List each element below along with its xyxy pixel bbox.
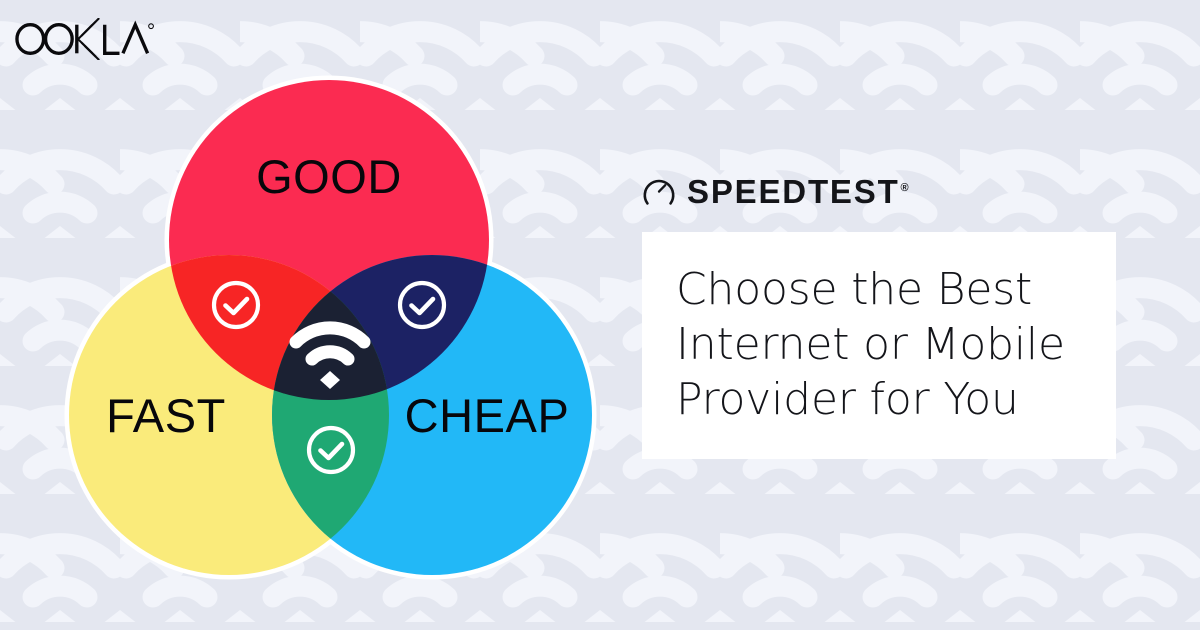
speedtest-trademark-symbol: ® <box>901 182 909 194</box>
speedtest-wordmark: SPEEDTEST® <box>687 175 909 208</box>
headline-card: Choose the Best Internet or Mobile Provi… <box>642 232 1116 459</box>
headline-line-1: Choose the Best <box>676 262 1082 317</box>
headline-line-2: Internet or Mobile <box>676 317 1082 372</box>
speedtest-wordmark-text: SPEEDTEST <box>687 173 900 210</box>
banner-canvas: GOOD FAST CHEAP <box>0 0 1200 630</box>
venn-diagram: GOOD FAST CHEAP <box>44 60 614 580</box>
speedtest-logo: SPEEDTEST® <box>642 168 1122 214</box>
speedometer-icon <box>642 174 676 208</box>
venn-label-cheap: CHEAP <box>405 389 570 442</box>
page-title: Choose the Best Internet or Mobile Provi… <box>676 262 1082 427</box>
right-content-column: SPEEDTEST® Choose the Best Internet or M… <box>642 168 1122 459</box>
venn-label-good: GOOD <box>256 150 402 203</box>
venn-label-fast: FAST <box>106 389 226 442</box>
ookla-logo <box>14 18 154 60</box>
headline-line-3: Provider for You <box>676 372 1082 427</box>
